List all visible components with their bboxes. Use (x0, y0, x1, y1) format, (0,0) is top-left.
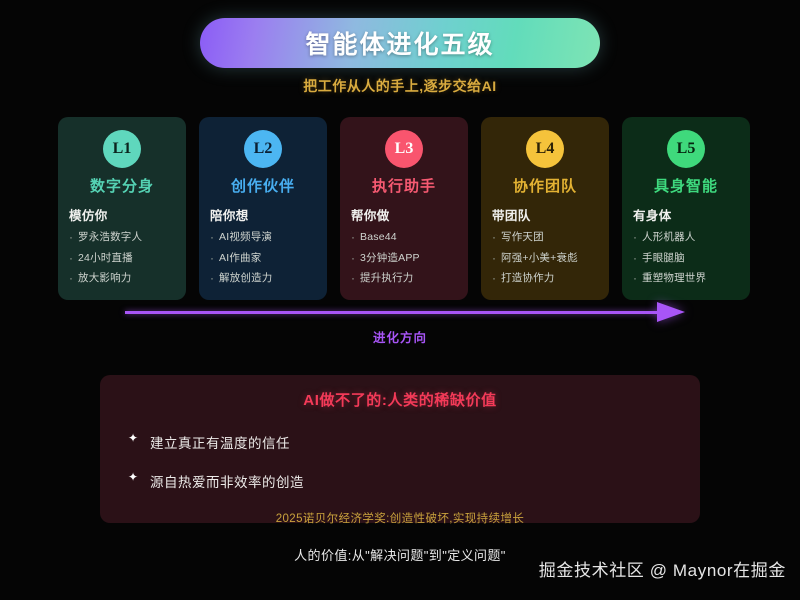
human-value-panel: AI做不了的:人类的稀缺价值 ✦ 建立真正有温度的信任 ✦ 源自热爱而非效率的创… (100, 375, 700, 523)
list-item: ✦ 建立真正有温度的信任 (128, 432, 700, 452)
arrow-right-icon (657, 302, 685, 322)
level-card-l3[interactable]: L3 执行助手 帮你做 Base44 3分钟造APP 提升执行力 (340, 117, 468, 300)
arrow-line (125, 311, 659, 314)
value-panel-items: ✦ 建立真正有温度的信任 ✦ 源自热爱而非效率的创造 (100, 432, 700, 491)
infographic-canvas: 智能体进化五级 把工作从人的手上,逐步交给AI L1 数字分身 模仿你 罗永浩数… (0, 0, 800, 600)
list-item: AI作曲家 (210, 248, 316, 269)
list-item: 人形机器人 (633, 227, 739, 248)
level-subtitle-l4: 带团队 (492, 205, 598, 224)
level-subtitle-l5: 有身体 (633, 205, 739, 224)
list-item-label: 源自热爱而非效率的创造 (150, 475, 304, 490)
list-item: 24小时直播 (69, 248, 175, 269)
level-subtitle-l1: 模仿你 (69, 205, 175, 224)
level-title-l3: 执行助手 (351, 175, 457, 196)
level-title-l1: 数字分身 (69, 175, 175, 196)
level-card-l2[interactable]: L2 创作伙伴 陪你想 AI视频导演 AI作曲家 解放创造力 (199, 117, 327, 300)
sparkle-icon: ✦ (128, 470, 139, 484)
watermark: 掘金技术社区 @ Maynor在掘金 (539, 556, 786, 581)
level-card-l1[interactable]: L1 数字分身 模仿你 罗永浩数字人 24小时直播 放大影响力 (58, 117, 186, 300)
level-items-l4: 写作天团 阿强+小美+衰彪 打造协作力 (492, 227, 598, 289)
levels-row: L1 数字分身 模仿你 罗永浩数字人 24小时直播 放大影响力 L2 创作伙伴 … (58, 117, 750, 300)
list-item: 阿强+小美+衰彪 (492, 248, 598, 269)
level-items-l1: 罗永浩数字人 24小时直播 放大影响力 (69, 227, 175, 289)
page-subtitle: 把工作从人的手上,逐步交给AI (0, 76, 800, 96)
list-item: 手眼腿脑 (633, 248, 739, 269)
list-item: 提升执行力 (351, 268, 457, 289)
level-items-l2: AI视频导演 AI作曲家 解放创造力 (210, 227, 316, 289)
list-item: 罗永浩数字人 (69, 227, 175, 248)
level-badge-l2: L2 (244, 130, 282, 168)
level-badge-l4: L4 (526, 130, 564, 168)
value-panel-heading: AI做不了的:人类的稀缺价值 (100, 389, 700, 410)
level-card-l4[interactable]: L4 协作团队 带团队 写作天团 阿强+小美+衰彪 打造协作力 (481, 117, 609, 300)
level-title-l4: 协作团队 (492, 175, 598, 196)
list-item: Base44 (351, 227, 457, 248)
evolution-arrow-label: 进化方向 (0, 327, 800, 346)
list-item: 3分钟造APP (351, 248, 457, 269)
level-card-l5[interactable]: L5 具身智能 有身体 人形机器人 手眼腿脑 重塑物理世界 (622, 117, 750, 300)
level-badge-l1: L1 (103, 130, 141, 168)
title-banner: 智能体进化五级 (200, 18, 600, 68)
list-item: 解放创造力 (210, 268, 316, 289)
evolution-arrow (125, 306, 685, 320)
level-title-l5: 具身智能 (633, 175, 739, 196)
level-items-l5: 人形机器人 手眼腿脑 重塑物理世界 (633, 227, 739, 289)
sparkle-icon: ✦ (128, 431, 139, 445)
level-badge-l5: L5 (667, 130, 705, 168)
list-item: 放大影响力 (69, 268, 175, 289)
list-item-label: 建立真正有温度的信任 (150, 436, 290, 451)
level-title-l2: 创作伙伴 (210, 175, 316, 196)
value-panel-footnote: 2025诺贝尔经济学奖:创造性破坏,实现持续增长 (100, 510, 700, 526)
list-item: 打造协作力 (492, 268, 598, 289)
list-item: AI视频导演 (210, 227, 316, 248)
page-title: 智能体进化五级 (305, 25, 494, 61)
level-items-l3: Base44 3分钟造APP 提升执行力 (351, 227, 457, 289)
list-item: ✦ 源自热爱而非效率的创造 (128, 471, 700, 491)
level-subtitle-l2: 陪你想 (210, 205, 316, 224)
level-badge-l3: L3 (385, 130, 423, 168)
list-item: 写作天团 (492, 227, 598, 248)
level-subtitle-l3: 帮你做 (351, 205, 457, 224)
list-item: 重塑物理世界 (633, 268, 739, 289)
